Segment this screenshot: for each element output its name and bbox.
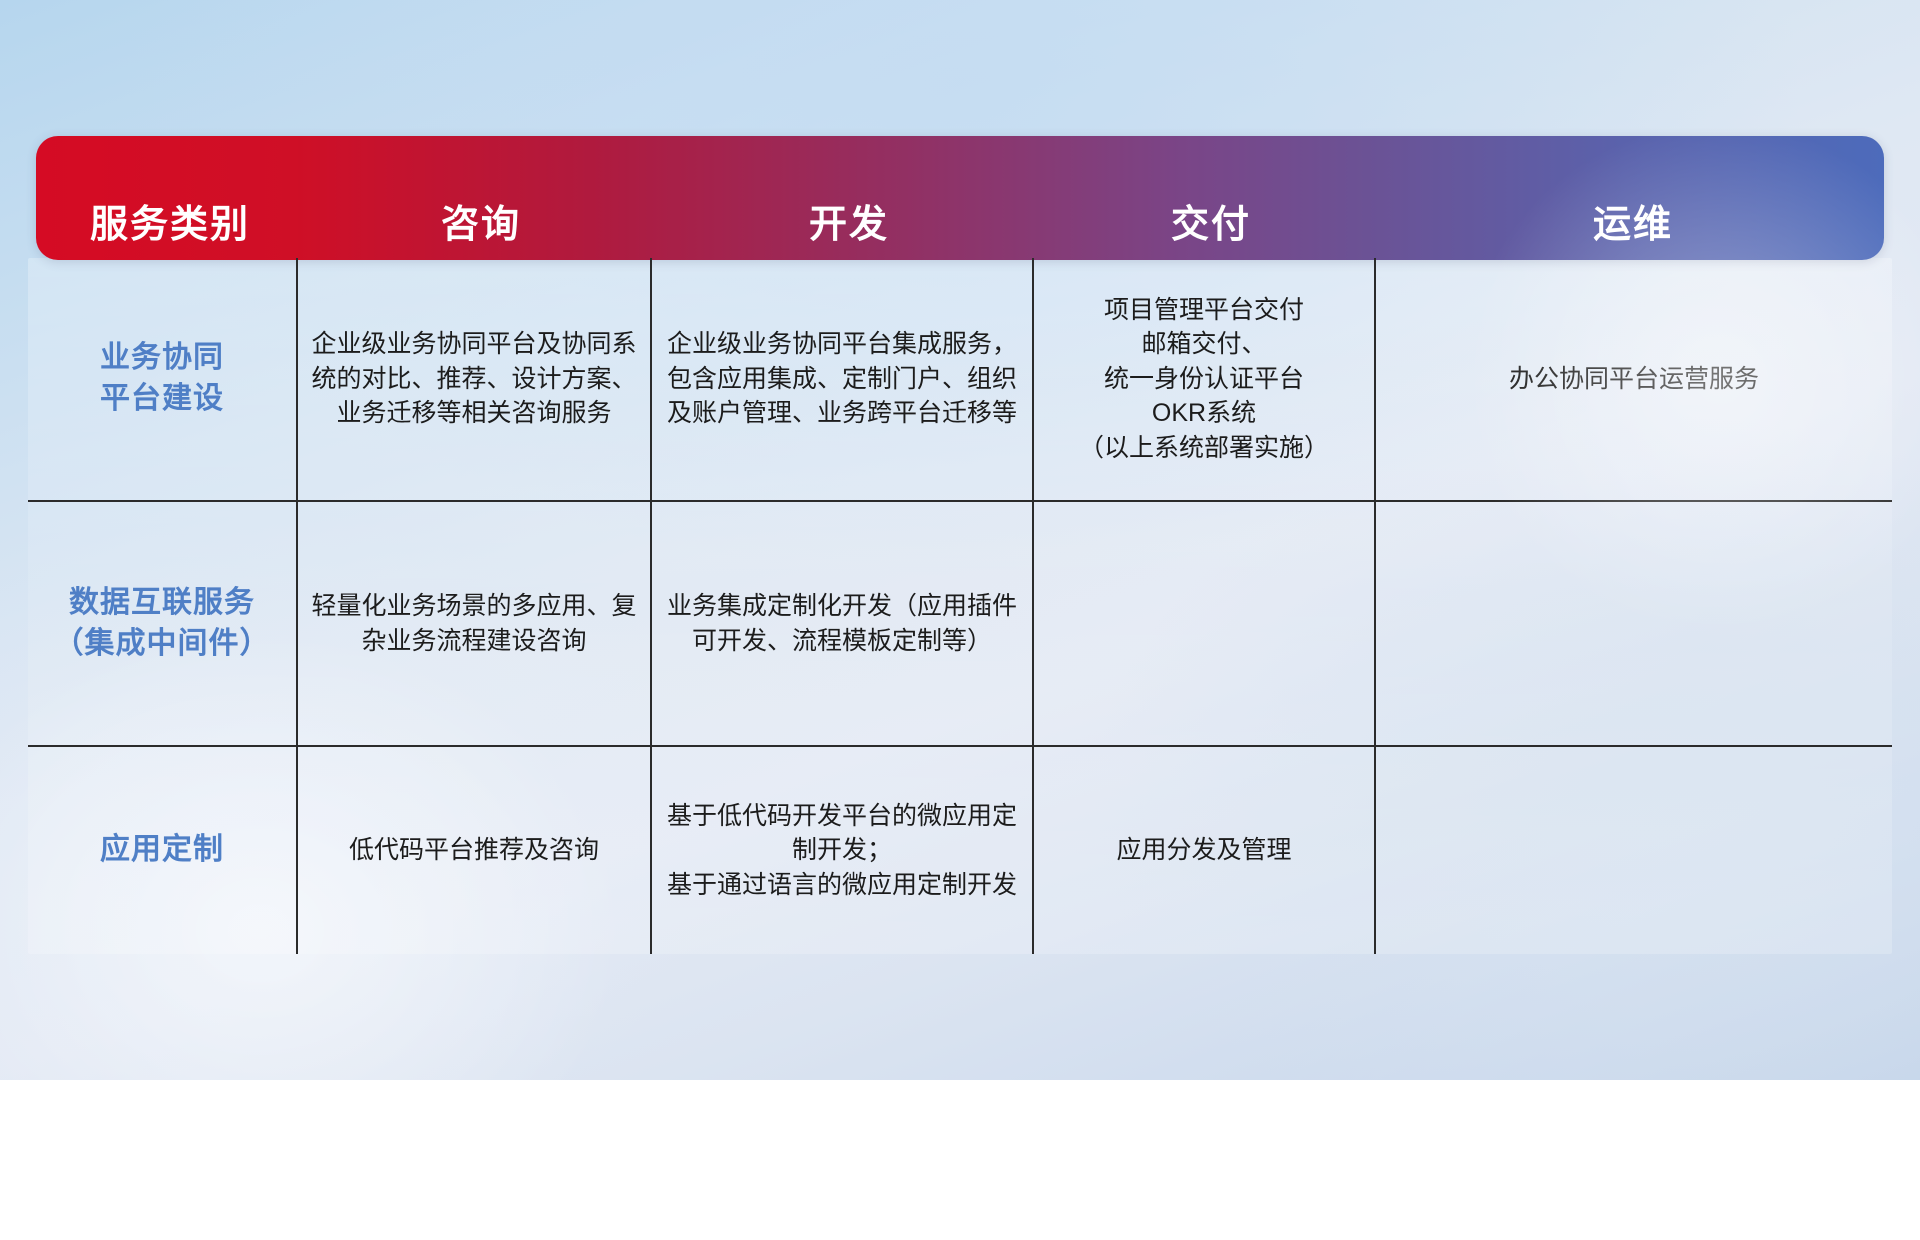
cell-consulting-row1: 企业级业务协同平台及协同系 统的对比、推荐、设计方案、 业务迁移等相关咨询服务 xyxy=(296,258,650,500)
header-cell-service-category: 服务类别 xyxy=(36,206,304,244)
row-label-app-customization: 应用定制 xyxy=(28,747,296,954)
service-category-table: 服务类别 咨询 开发 交付 运维 业务协同 平台建设 企业级业务协同平台及协同系… xyxy=(28,136,1892,954)
cell-delivery-row1: 项目管理平台交付 邮箱交付、 统一身份认证平台 OKR系统 （以上系统部署实施） xyxy=(1032,258,1374,500)
cell-consulting-row2: 轻量化业务场景的多应用、复 杂业务流程建设咨询 xyxy=(296,502,650,745)
header-cell-development: 开发 xyxy=(658,206,1040,244)
header-cell-operations: 运维 xyxy=(1382,206,1884,244)
table-header-row: 服务类别 咨询 开发 交付 运维 xyxy=(36,136,1884,260)
header-cell-delivery: 交付 xyxy=(1040,206,1382,244)
header-cell-consulting: 咨询 xyxy=(304,206,658,244)
cell-operations-row2 xyxy=(1374,502,1892,745)
row-label-data-interconnect: 数据互联服务 （集成中间件） xyxy=(28,502,296,745)
cell-operations-row1: 办公协同平台运营服务 xyxy=(1374,258,1892,500)
table-row: 业务协同 平台建设 企业级业务协同平台及协同系 统的对比、推荐、设计方案、 业务… xyxy=(28,258,1892,500)
cell-development-row3: 基于低代码开发平台的微应用定 制开发； 基于通过语言的微应用定制开发 xyxy=(650,747,1032,954)
cell-delivery-row3: 应用分发及管理 xyxy=(1032,747,1374,954)
cell-development-row2: 业务集成定制化开发（应用插件 可开发、流程模板定制等） xyxy=(650,502,1032,745)
cell-consulting-row3: 低代码平台推荐及咨询 xyxy=(296,747,650,954)
cell-development-row1: 企业级业务协同平台集成服务， 包含应用集成、定制门户、组织 及账户管理、业务跨平… xyxy=(650,258,1032,500)
table-body: 业务协同 平台建设 企业级业务协同平台及协同系 统的对比、推荐、设计方案、 业务… xyxy=(28,258,1892,954)
cell-operations-row3 xyxy=(1374,747,1892,954)
table-row: 数据互联服务 （集成中间件） 轻量化业务场景的多应用、复 杂业务流程建设咨询 业… xyxy=(28,500,1892,745)
row-label-business-collaboration: 业务协同 平台建设 xyxy=(28,258,296,500)
slide-canvas: 服务类别 咨询 开发 交付 运维 业务协同 平台建设 企业级业务协同平台及协同系… xyxy=(0,0,1920,1080)
table-row: 应用定制 低代码平台推荐及咨询 基于低代码开发平台的微应用定 制开发； 基于通过… xyxy=(28,745,1892,954)
cell-delivery-row2 xyxy=(1032,502,1374,745)
